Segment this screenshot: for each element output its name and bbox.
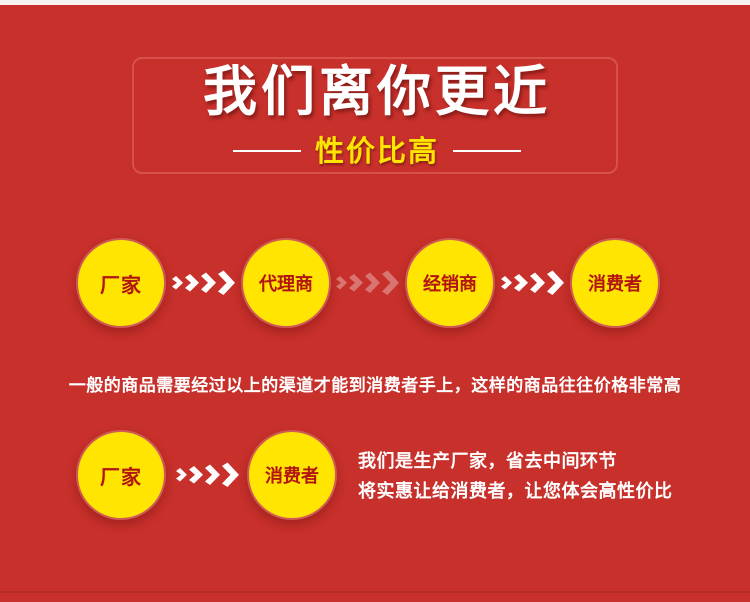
flow-node-distributor: 经销商: [405, 238, 495, 328]
flow-node-label: 经销商: [423, 270, 477, 296]
caption-direct-channel: 我们是生产厂家，省去中间环节 将实惠让给消费者，让您体会高性价比: [358, 447, 698, 507]
flow-node-consumer-direct: 消费者: [247, 430, 337, 520]
flow-node-label: 消费者: [265, 462, 319, 488]
page-title: 我们离你更近: [134, 61, 620, 123]
flow-node-manufacturer: 厂家: [76, 238, 166, 328]
page-subtitle: 性价比高: [315, 134, 439, 168]
flow-node-label: 厂家: [100, 461, 142, 490]
caption-direct-line-1: 我们是生产厂家，省去中间环节: [358, 447, 698, 477]
caption-direct-line-2: 将实惠让给消费者，让您体会高性价比: [358, 477, 698, 507]
chevrons-right-icon: [334, 268, 402, 298]
caption-traditional-channel: 一般的商品需要经过以上的渠道才能到消费者手上，这样的商品往往价格非常高: [0, 374, 750, 398]
subhead-row: 性价比高: [134, 131, 620, 171]
header-plate: 我们离你更近 性价比高: [132, 57, 618, 174]
chevrons-right-icon: [499, 268, 567, 298]
chevrons-right-icon: [170, 268, 238, 298]
bottom-edge-strip: [0, 591, 750, 593]
rule-left-divider: [233, 150, 301, 152]
flow-node-manufacturer-direct: 厂家: [76, 430, 166, 520]
flow-node-label: 厂家: [100, 269, 142, 298]
flow-diagram-direct-channel: 厂家 消费者: [76, 430, 337, 520]
chevrons-right-icon: [174, 460, 242, 490]
flow-node-label: 代理商: [259, 270, 313, 296]
flow-node-label: 消费者: [588, 270, 642, 296]
flow-node-consumer: 消费者: [570, 238, 660, 328]
promo-banner: 我们离你更近 性价比高 厂家 代理商: [0, 0, 750, 602]
rule-right-divider: [453, 150, 521, 152]
flow-diagram-traditional-channel: 厂家 代理商: [76, 238, 660, 328]
top-edge-strip: [0, 0, 750, 5]
flow-node-agent: 代理商: [241, 238, 331, 328]
